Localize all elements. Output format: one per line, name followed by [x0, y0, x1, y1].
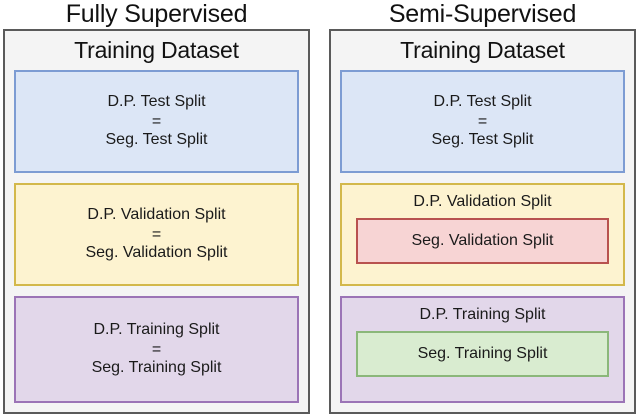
fs-validation-dp-label: D.P. Validation Split [87, 205, 225, 225]
ss-training-split-box: D.P. Training Split Seg. Training Split [340, 296, 625, 403]
spacer [14, 173, 299, 183]
fs-training-equals-symbol: = [152, 341, 161, 359]
ss-training-dp-label: D.P. Training Split [420, 305, 546, 325]
ss-test-seg-label: Seg. Test Split [432, 130, 534, 150]
dataset-panel-fully-supervised: Training Dataset D.P. Test Split = Seg. … [3, 29, 310, 414]
panel-header-fully-supervised: Training Dataset [14, 37, 299, 70]
ss-seg-training-split-box: Seg. Training Split [356, 331, 609, 377]
column-title-fully-supervised: Fully Supervised [3, 0, 310, 29]
ss-validation-split-box: D.P. Validation Split Seg. Validation Sp… [340, 183, 625, 286]
fs-training-split-box: D.P. Training Split = Seg. Training Spli… [14, 296, 299, 403]
fs-validation-seg-label: Seg. Validation Split [85, 243, 227, 263]
spacer [340, 173, 625, 183]
column-semi-supervised: Semi-Supervised Training Dataset D.P. Te… [329, 0, 636, 414]
panel-body-fully-supervised: D.P. Test Split = Seg. Test Split D.P. V… [14, 70, 299, 403]
fs-test-seg-label: Seg. Test Split [106, 130, 208, 150]
spacer [340, 286, 625, 296]
ss-test-split-box: D.P. Test Split = Seg. Test Split [340, 70, 625, 173]
ss-test-equals-symbol: = [478, 113, 487, 131]
panel-body-semi-supervised: D.P. Test Split = Seg. Test Split D.P. V… [340, 70, 625, 403]
fs-test-dp-label: D.P. Test Split [107, 92, 205, 112]
fs-training-seg-label: Seg. Training Split [92, 358, 222, 378]
fs-validation-equals-symbol: = [152, 226, 161, 244]
column-fully-supervised: Fully Supervised Training Dataset D.P. T… [3, 0, 310, 414]
column-title-semi-supervised: Semi-Supervised [329, 0, 636, 29]
fs-training-dp-label: D.P. Training Split [94, 320, 220, 340]
spacer [14, 286, 299, 296]
fs-test-split-box: D.P. Test Split = Seg. Test Split [14, 70, 299, 173]
ss-test-dp-label: D.P. Test Split [433, 92, 531, 112]
panel-header-semi-supervised: Training Dataset [340, 37, 625, 70]
ss-seg-validation-split-box: Seg. Validation Split [356, 218, 609, 264]
fs-validation-split-box: D.P. Validation Split = Seg. Validation … [14, 183, 299, 286]
fs-test-equals-symbol: = [152, 113, 161, 131]
ss-validation-dp-label: D.P. Validation Split [413, 192, 551, 212]
diagram-canvas: Fully Supervised Training Dataset D.P. T… [0, 0, 640, 414]
dataset-panel-semi-supervised: Training Dataset D.P. Test Split = Seg. … [329, 29, 636, 414]
